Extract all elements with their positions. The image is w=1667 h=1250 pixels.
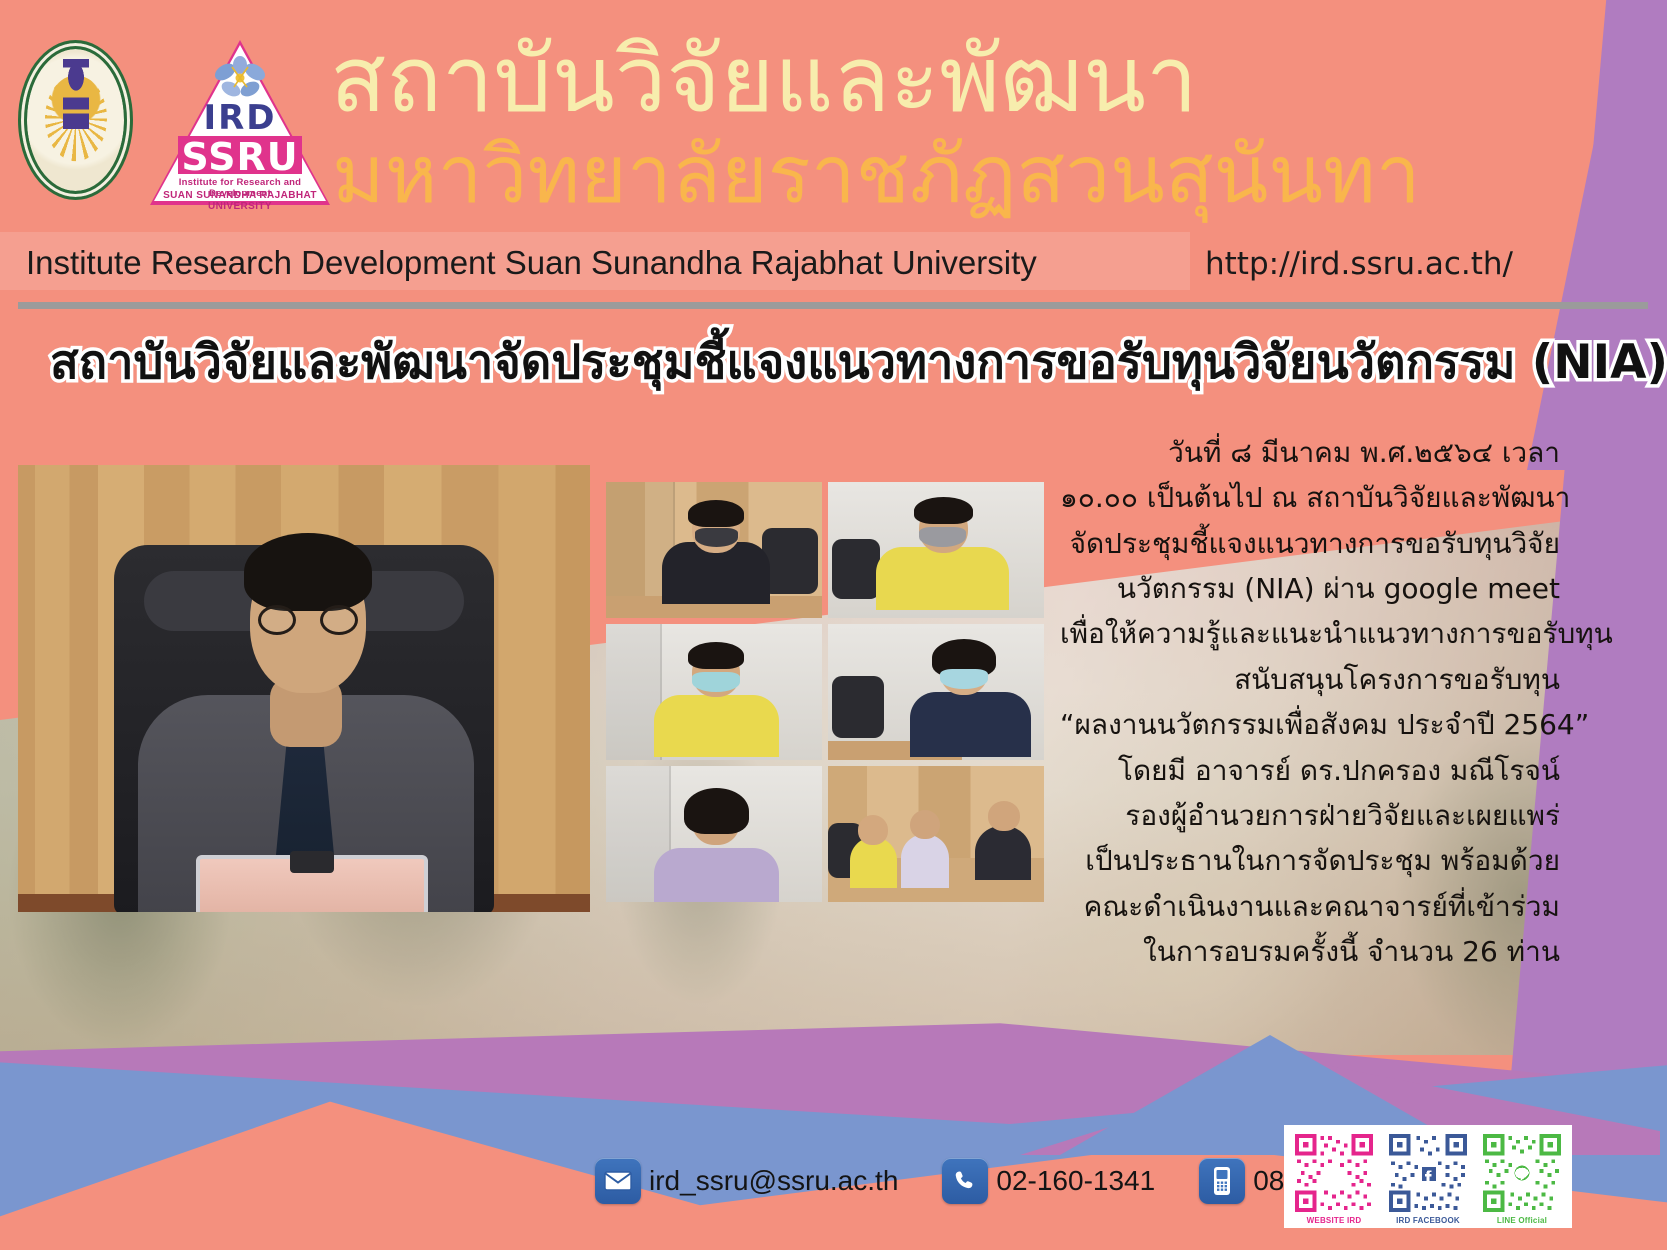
qr-website-label: WEBSITE IRD	[1293, 1216, 1375, 1225]
org-subtitle-english: Institute Research Development Suan Suna…	[26, 244, 1037, 282]
body-line: สนับสนุนโครงการขอรับทุน	[1060, 657, 1560, 702]
body-line: รองผู้อำนวยการฝ่ายวิจัยและเผยแพร่	[1060, 793, 1560, 838]
qr-code-line[interactable]: LINE Official	[1481, 1132, 1563, 1225]
grid-photo-2	[828, 482, 1044, 618]
meeting-photo-grid	[606, 482, 1044, 902]
qr-code-panel: WEBSITE IRD	[1284, 1125, 1572, 1228]
qr-facebook-label: IRD FACEBOOK	[1387, 1216, 1469, 1225]
grid-photo-6	[828, 766, 1044, 902]
page-headline: สถาบันวิจัยและพัฒนาจัดประชุมชี้แจงแนวทาง…	[50, 336, 1620, 390]
grid-photo-4	[828, 624, 1044, 760]
body-line: โดยมี อาจารย์ ดร.ปกครอง มณีโรจน์	[1060, 748, 1560, 793]
main-photo-chairman	[18, 465, 590, 912]
grid-photo-1	[606, 482, 822, 618]
qr-line-label: LINE Official	[1481, 1216, 1563, 1225]
grid-photo-3	[606, 624, 822, 760]
body-line: นวัตกรรม (NIA) ผ่าน google meet	[1060, 566, 1560, 611]
poster-header: IRD SSRU Institute for Research and Deve…	[0, 0, 1667, 300]
seal-pagoda-icon	[63, 59, 89, 129]
mobile-phone-icon	[1199, 1158, 1245, 1204]
body-line: เพื่อให้ความรู้และแนะนำแนวทางการขอรับทุน	[1060, 611, 1560, 656]
contact-email[interactable]: ird_ssru@ssru.ac.th	[595, 1158, 898, 1204]
contact-email-value: ird_ssru@ssru.ac.th	[649, 1165, 898, 1197]
body-line: ในการอบรมครั้งนี้ จำนวน 26 ท่าน	[1060, 929, 1560, 974]
contact-phone[interactable]: 02-160-1341	[942, 1158, 1155, 1204]
ssru-university-seal-logo	[18, 40, 133, 200]
website-url[interactable]: http://ird.ssru.ac.th/	[1205, 246, 1513, 282]
body-line: คณะดำเนินงานและคณาจารย์ที่เข้าร่วม	[1060, 884, 1560, 929]
header-divider-rule	[18, 302, 1648, 309]
event-description-paragraph: วันที่ ๘ มีนาคม พ.ศ.๒๕๖๔ เวลา ๑๐.๐๐ เป็น…	[1060, 430, 1560, 974]
qr-facebook-image	[1387, 1132, 1469, 1214]
qr-code-facebook[interactable]: IRD FACEBOOK	[1387, 1132, 1469, 1225]
body-line: จัดประชุมชี้แจงแนวทางการขอรับทุนวิจัย	[1060, 521, 1560, 566]
qr-website-image	[1293, 1132, 1375, 1214]
ird-logo-ssru-text: SSRU	[150, 135, 330, 179]
main-photo-glasses	[258, 605, 358, 635]
main-photo-hair	[244, 533, 372, 611]
envelope-icon	[595, 1158, 641, 1204]
poster-canvas: IRD SSRU Institute for Research and Deve…	[0, 0, 1667, 1250]
org-title-thai-line1: สถาบันวิจัยและพัฒนา	[330, 34, 1198, 126]
ird-logo-caption-secondary: SUAN SUNANDHA RAJABHAT UNIVERSITY	[134, 190, 346, 212]
orchid-flower-icon	[212, 56, 268, 102]
body-line: วันที่ ๘ มีนาคม พ.ศ.๒๕๖๔ เวลา	[1060, 430, 1560, 475]
contact-phone-value: 02-160-1341	[996, 1165, 1155, 1197]
body-line: “ผลงานนวัตกรรมเพื่อสังคม ประจำปี 2564”	[1060, 702, 1560, 747]
qr-line-image	[1481, 1132, 1563, 1214]
grid-photo-5	[606, 766, 822, 902]
qr-code-website[interactable]: WEBSITE IRD	[1293, 1132, 1375, 1225]
ird-logo: IRD SSRU Institute for Research and Deve…	[150, 40, 330, 205]
org-title-thai-line2: มหาวิทยาลัยราชภัฏสวนสุนันทา	[332, 135, 1421, 215]
telephone-icon	[942, 1158, 988, 1204]
ird-logo-ird-text: IRD	[150, 98, 330, 138]
body-line: ๑๐.๐๐ เป็นต้นไป ณ สถาบันวิจัยและพัฒนา	[1060, 475, 1560, 520]
main-photo-tablet-device	[196, 855, 428, 912]
body-line: เป็นประธานในการจัดประชุม พร้อมด้วย	[1060, 838, 1560, 883]
